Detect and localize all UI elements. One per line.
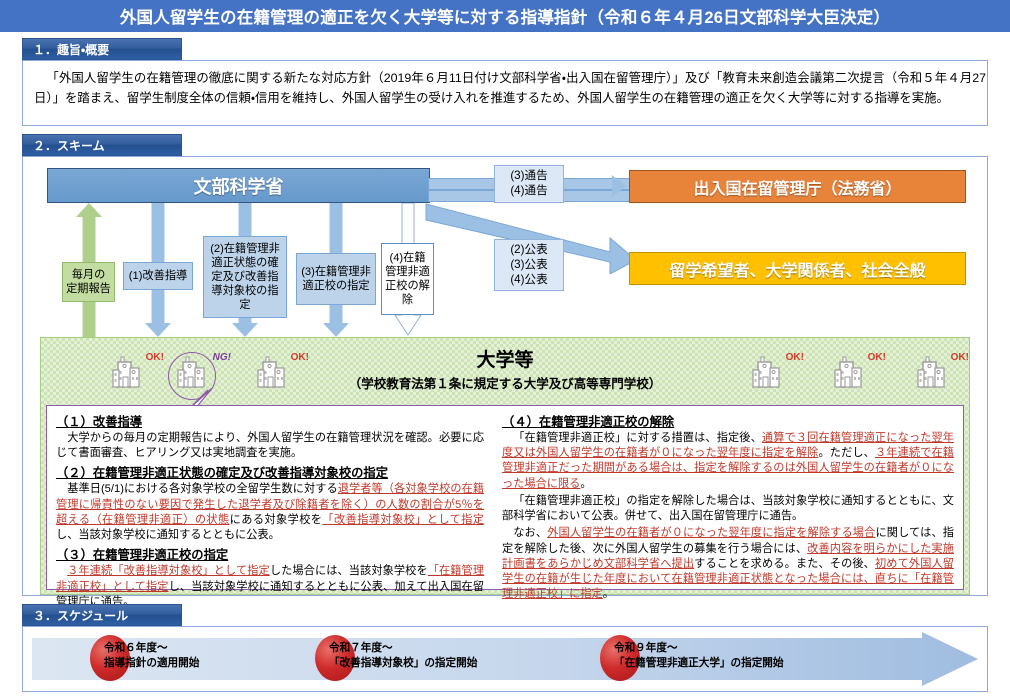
public-audience-box: 留学希望者、大学関係者、社会全般: [629, 252, 966, 285]
scheme-detail-box: （１）改善指導大学からの毎月の定期報告により、外国人留学生の在籍管理状況を確認。…: [46, 405, 964, 590]
schedule-text-3: 「在籍管理非適正大学」の指定開始: [614, 656, 784, 671]
section-header-overview: １．趣旨・概要: [22, 38, 182, 60]
schedule-year-1: 令和６年度～: [104, 641, 199, 656]
step1-box: (1)改善指導: [123, 262, 193, 290]
monthly-report-label: 毎月の 定期報告: [62, 262, 115, 302]
detail-highlight-text: ３年連続「改善指導対象校」として指定: [67, 565, 270, 577]
detail-text: 「在籍管理非適正校」に対する措置は、指定後、: [513, 432, 762, 444]
building-icon: [177, 355, 213, 389]
university-marker-1: OK!: [110, 355, 150, 394]
status-label-ok: OK!: [868, 352, 886, 363]
detail-text: し、当該対象学校に通知するとともに公表。: [56, 529, 280, 541]
detail-text: 大学からの毎月の定期報告により、外国人留学生の在籍管理状況を確認。必要に応じて書…: [56, 432, 484, 459]
page-title: 外国人留学生の在籍管理の適正を欠く大学等に対する指導指針（令和６年４月26日文部…: [120, 4, 890, 28]
section-header-scheme: ２．スキーム: [22, 134, 182, 156]
monthly-report-line-1: 毎月の: [66, 268, 111, 282]
detail-paragraph: 基準日(5/1)における各対象学校の全留学生数に対する退学者等（各対象学校の在籍…: [56, 482, 484, 543]
notify-arrow-head: [612, 175, 626, 197]
overview-text: 「外国人留学生の在籍管理の徹底に関する新たな対応方針（2019年６月11日付け文…: [34, 68, 986, 108]
detail-text: 。: [603, 588, 614, 600]
step2-box: (2)在籍管理非適正状態の確定及び改善指導対象校の指定: [203, 236, 287, 318]
detail-paragraph: 「在籍管理非適正校」の指定を解除した場合は、当該対象学校に通知するとともに、文部…: [502, 494, 954, 524]
detail-text: なお、: [513, 527, 547, 539]
notify-label-line-2: (4)通告: [500, 184, 558, 199]
university-marker-5: OK!: [832, 355, 872, 394]
schedule-item-3: 令和９年度～ 「在籍管理非適正大学」の指定開始: [614, 641, 784, 672]
detail-column-left: （１）改善指導大学からの毎月の定期報告により、外国人留学生の在籍管理状況を確認。…: [47, 406, 493, 589]
publish-label-line-1: (2)公表: [500, 243, 558, 258]
detail-text: した場合には、当該対象学校を: [270, 565, 428, 577]
university-marker-4: OK!: [750, 355, 790, 394]
status-label-ok: OK!: [291, 352, 309, 363]
status-label-ok: OK!: [146, 352, 164, 363]
status-label-ok: OK!: [951, 352, 969, 363]
detail-text: することを求める。また、その後、: [694, 558, 875, 570]
building-icon: [112, 355, 148, 389]
detail-paragraph: なお、外国人留学生の在籍者が０になった翌年度に指定を解除する場合に関しては、指定…: [502, 526, 954, 602]
schedule-year-2: 令和７年度～: [329, 641, 477, 656]
publish-label: (2)公表 (3)公表 (4)公表: [494, 239, 564, 291]
building-icon: [752, 355, 788, 389]
schedule-text-2: 「改善指導対象校」の指定開始: [329, 656, 477, 671]
university-marker-6: OK!: [915, 355, 955, 394]
building-icon: [257, 355, 293, 389]
detail-text: 。: [580, 478, 591, 490]
detail-column-right: （４）在籍管理非適正校の解除「在籍管理非適正校」に対する措置は、指定後、通算で３…: [493, 406, 963, 589]
publish-label-line-3: (4)公表: [500, 273, 558, 288]
schedule-text-1: 指導指針の適用開始: [104, 656, 199, 671]
detail-paragraph: 「在籍管理非適正校」に対する措置は、指定後、通算で３回在籍管理適正になった翌年度…: [502, 431, 954, 492]
immigration-agency-box: 出入国在留管理庁（法務省）: [629, 170, 966, 203]
status-label-ng: NG!: [213, 352, 231, 363]
mext-box: 文部科学省: [47, 168, 430, 203]
detail-heading: （４）在籍管理非適正校の解除: [502, 412, 954, 430]
detail-text: 。ただし、: [818, 447, 875, 459]
building-icon: [917, 355, 953, 389]
section-header-schedule: ３．スケジュール: [22, 604, 182, 626]
detail-heading: （２）在籍管理非適正状態の確定及び改善指導対象校の指定: [56, 463, 484, 481]
detail-heading: （１）改善指導: [56, 412, 484, 430]
detail-highlight-text: 外国人留学生の在籍者が０になった翌年度に指定を解除する場合: [547, 527, 875, 539]
detail-paragraph: 大学からの毎月の定期報告により、外国人留学生の在籍管理状況を確認。必要に応じて書…: [56, 431, 484, 461]
monthly-report-line-2: 定期報告: [66, 282, 111, 296]
detail-text: にある対象学校を: [230, 514, 323, 526]
step3-box: (3)在籍管理非適正校の指定: [296, 253, 376, 305]
notify-label: (3)通告 (4)通告: [494, 165, 564, 203]
overview-paragraph: 「外国人留学生の在籍管理の徹底に関する新たな対応方針（2019年６月11日付け文…: [34, 68, 986, 108]
schedule-item-2: 令和７年度～ 「改善指導対象校」の指定開始: [329, 641, 477, 672]
schedule-item-1: 令和６年度～ 指導指針の適用開始: [104, 641, 199, 672]
detail-text: 基準日(5/1)における各対象学校の全留学生数に対する: [67, 483, 338, 495]
detail-highlight-text: 「改善指導対象校」として指定: [322, 514, 484, 526]
schedule-year-3: 令和９年度～: [614, 641, 784, 656]
status-label-ok: OK!: [786, 352, 804, 363]
detail-heading: （３）在籍管理非適正校の指定: [56, 545, 484, 563]
building-icon: [834, 355, 870, 389]
publish-label-line-2: (3)公表: [500, 258, 558, 273]
notify-label-line-1: (3)通告: [500, 169, 558, 184]
page-title-bar: 外国人留学生の在籍管理の適正を欠く大学等に対する指導指針（令和６年４月26日文部…: [0, 0, 1010, 32]
university-marker-3: OK!: [255, 355, 295, 394]
step4-box: (4)在籍管理非適正校の解除: [381, 243, 434, 315]
detail-text: 「在籍管理非適正校」の指定を解除した場合は、当該対象学校に通知するとともに、文部…: [502, 495, 954, 522]
